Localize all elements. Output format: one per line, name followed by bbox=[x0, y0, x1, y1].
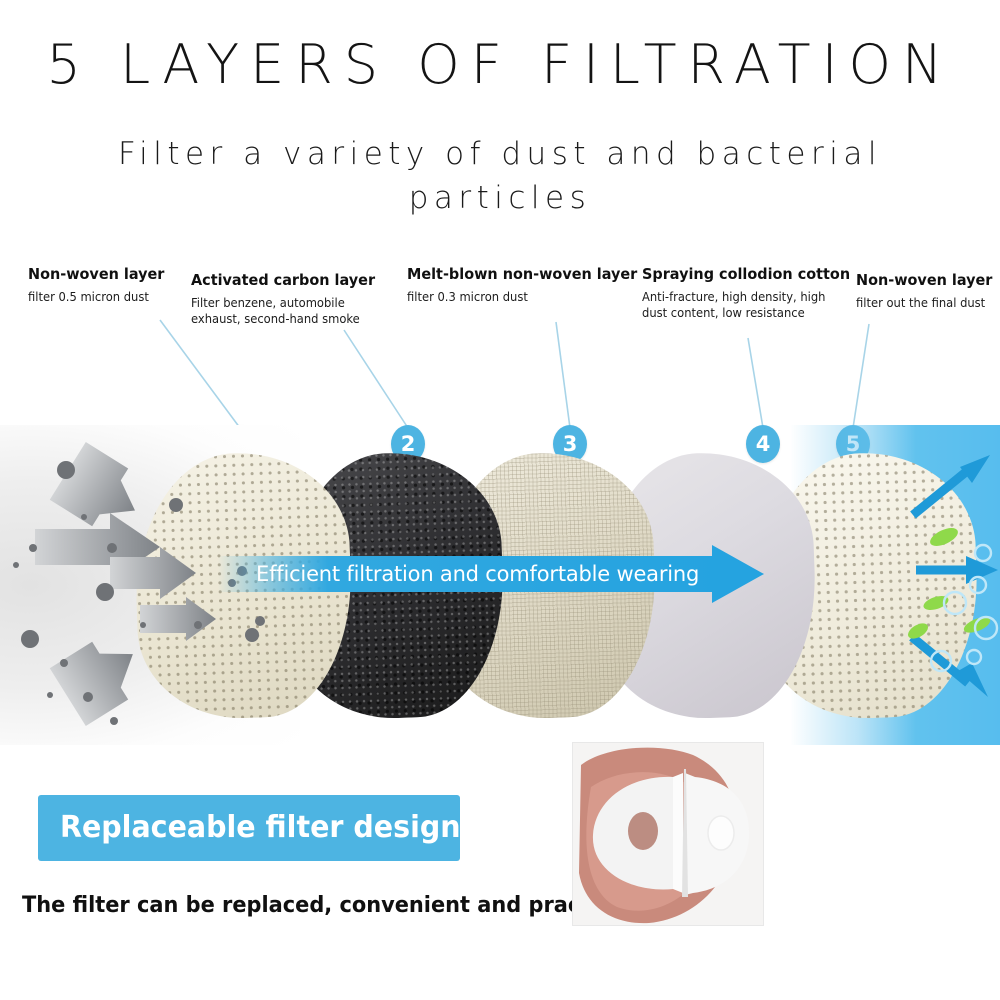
replaceable-filter-tag-label: Replaceable filter design bbox=[60, 795, 461, 861]
layer-label-4-description: Anti-fracture, high density, high dust c… bbox=[642, 289, 835, 322]
page-title: 5 LAYERS OF FILTRATION bbox=[0, 38, 1000, 92]
leader-line-2 bbox=[344, 330, 408, 428]
replaceable-filter-tag: Replaceable filter design bbox=[38, 795, 460, 861]
banner-arrow-icon bbox=[712, 545, 764, 603]
efficiency-banner: Efficient filtration and comfortable wea… bbox=[218, 556, 763, 592]
layer-label-5: Non-woven layer filter out the final dus… bbox=[856, 272, 1000, 311]
layer-label-2-description: Filter benzene, automobile exhaust, seco… bbox=[191, 295, 383, 328]
layer-label-2-title: Activated carbon layer bbox=[191, 272, 383, 290]
layer-label-1-description: filter 0.5 micron dust bbox=[28, 289, 177, 306]
layer-label-2: Activated carbon layer Filter benzene, a… bbox=[191, 272, 397, 328]
layer-label-3: Melt-blown non-woven layer filter 0.3 mi… bbox=[407, 266, 645, 305]
leader-line-4 bbox=[748, 338, 763, 428]
layer-label-3-title: Melt-blown non-woven layer bbox=[407, 266, 628, 284]
layer-label-4: Spraying collodion cotton Anti-fracture,… bbox=[642, 266, 850, 322]
layer-label-1-title: Non-woven layer bbox=[28, 266, 177, 284]
layer-label-1: Non-woven layer filter 0.5 micron dust bbox=[28, 266, 188, 305]
leader-line-5 bbox=[853, 324, 869, 428]
layer-label-5-description: filter out the final dust bbox=[856, 295, 996, 312]
bottom-caption: The filter can be replaced, convenient a… bbox=[22, 893, 631, 918]
layer-label-5-title: Non-woven layer bbox=[856, 272, 996, 290]
page-subtitle: Filter a variety of dust and bacterial p… bbox=[60, 132, 940, 220]
leader-line-1 bbox=[160, 320, 240, 428]
infographic-page: 5 LAYERS OF FILTRATION Filter a variety … bbox=[0, 0, 1000, 1000]
banner-label: Efficient filtration and comfortable wea… bbox=[256, 556, 699, 592]
leader-line-3 bbox=[556, 322, 570, 428]
filter-product-photo bbox=[572, 742, 764, 926]
filter-in-hand-image bbox=[573, 743, 763, 925]
layer-label-4-title: Spraying collodion cotton bbox=[642, 266, 835, 284]
layer-label-3-description: filter 0.3 micron dust bbox=[407, 289, 628, 306]
